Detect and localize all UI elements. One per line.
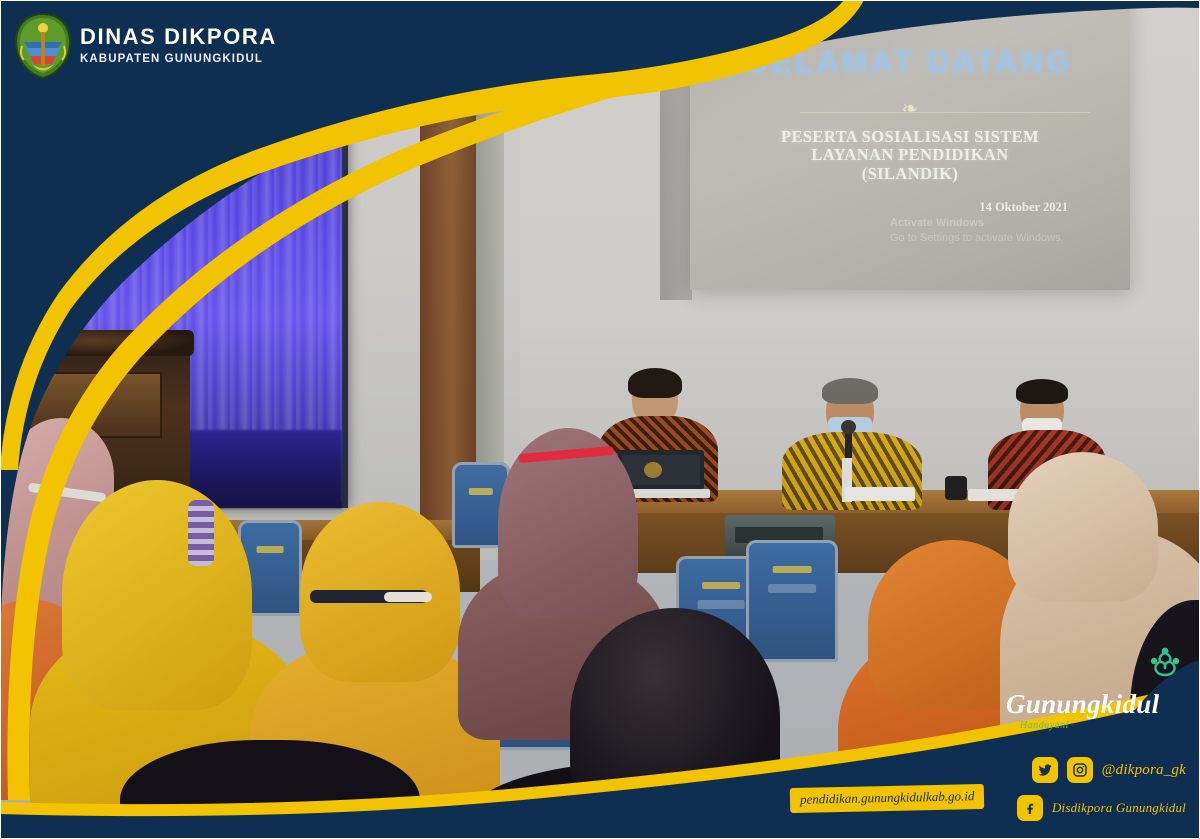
facebook-page-name[interactable]: Disdikpora Gunungkidul <box>1052 800 1186 816</box>
brand-tagline: Handayani <box>1006 720 1184 731</box>
website-url[interactable]: pendidikan.gunungkidulkab.go.id <box>790 784 985 813</box>
facebook-icon[interactable] <box>1017 795 1043 821</box>
social-row-primary: @dikpora_gk <box>1016 757 1186 783</box>
gunungkidul-brand: Gunungkidul Handayani <box>1006 691 1184 731</box>
batik-flourish-icon <box>1144 645 1186 687</box>
brand-name: Gunungkidul <box>1006 691 1184 718</box>
instagram-handle[interactable]: @dikpora_gk <box>1102 762 1186 779</box>
poster-canvas: SELAMAT DATANG ❧ PESERTA SOSIALISASI SIS… <box>0 0 1200 839</box>
page-title: DINAS DIKPORA <box>80 26 277 48</box>
social-row-facebook: Disdikpora Gunungkidul <box>1016 795 1186 821</box>
header-text-block: DINAS DIKPORA KABUPATEN GUNUNGKIDUL <box>80 26 277 65</box>
instagram-icon[interactable] <box>1067 757 1093 783</box>
twitter-icon[interactable] <box>1032 757 1058 783</box>
gunungkidul-regency-crest <box>12 12 74 80</box>
page-subtitle: KABUPATEN GUNUNGKIDUL <box>80 53 277 65</box>
